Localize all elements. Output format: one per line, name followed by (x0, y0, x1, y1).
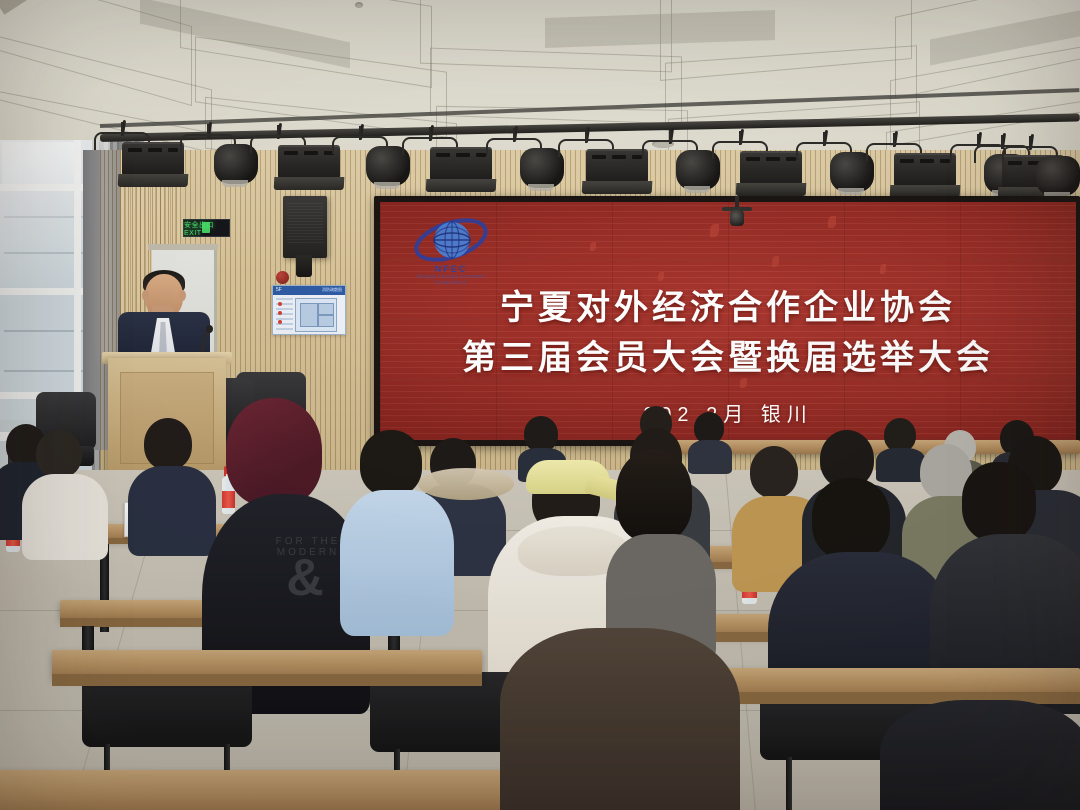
video-camera (722, 196, 752, 230)
exit-sign: 安全出口 EXIT (183, 219, 230, 237)
association-logo: NFEC Ningxia Foreign Economic Cooperatio… (412, 216, 490, 288)
logo-acronym: NFEC (412, 264, 490, 274)
door-frame (148, 244, 218, 250)
lighting-truss (100, 120, 1080, 142)
wall-speaker (283, 196, 327, 258)
fire-alarm-icon (276, 271, 289, 284)
conference-hall-photo: 安全出口 EXIT 5F 消防疏散图 (0, 0, 1080, 810)
fur-hood-collar (418, 468, 514, 500)
microphone-head (206, 325, 213, 333)
running-person-icon (202, 222, 210, 233)
table-foreground-1-edge (52, 674, 482, 686)
screen-date-line: 202 2月 银川 (380, 398, 1076, 427)
led-screen: NFEC Ningxia Foreign Economic Cooperatio… (380, 202, 1076, 440)
speaker-ear-left (142, 290, 149, 301)
red-hair (226, 398, 322, 506)
evacuation-plan-sign: 5F 消防疏散图 (272, 285, 346, 335)
plan-title-label: 消防疏散图 (322, 287, 342, 293)
plan-floor-label: 5F (276, 287, 282, 293)
speaker-ear-right (179, 290, 186, 301)
jacket-ampersand-graphic: & (278, 550, 332, 606)
speaker-mount (296, 255, 312, 277)
screen-title-line2: 第三届会员大会暨换届选举大会 (380, 330, 1076, 379)
screen-title-line1: 宁夏对外经济合作企业协会 (380, 280, 1076, 329)
